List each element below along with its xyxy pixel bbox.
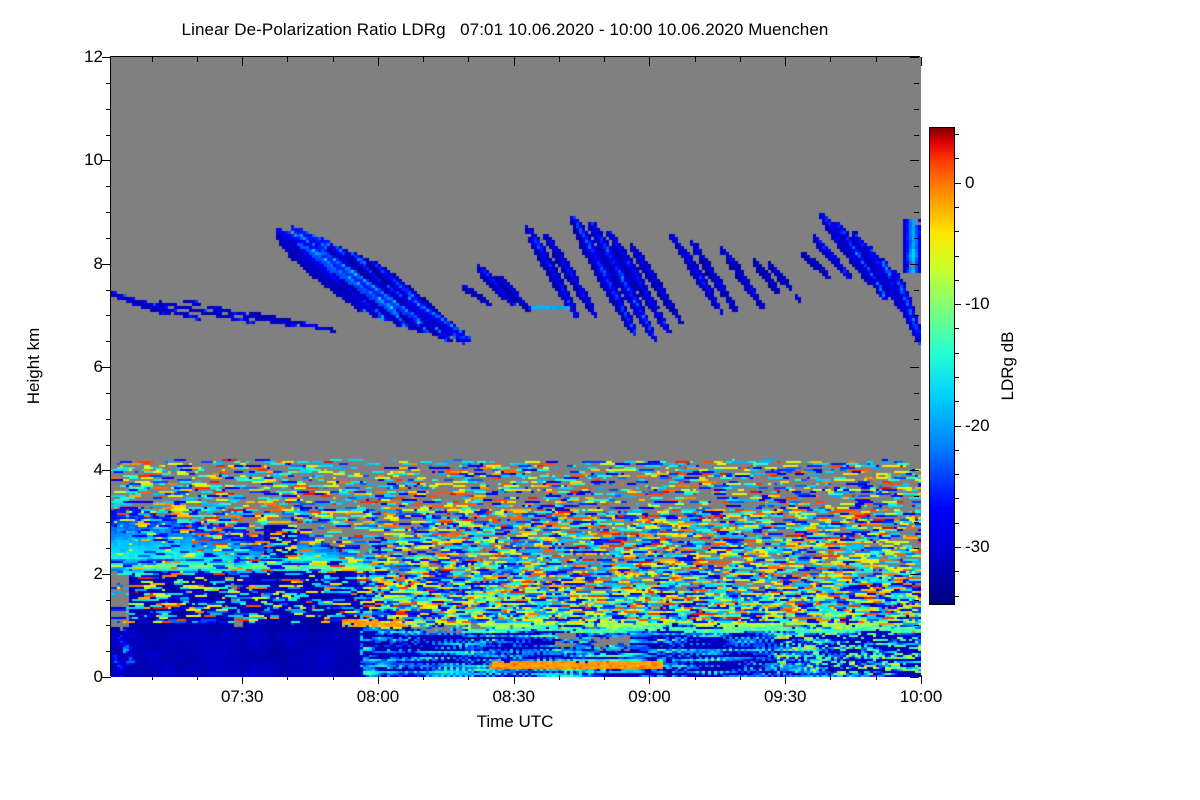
colorbar-tick-minor [954, 498, 959, 499]
y-tick-minor [914, 548, 919, 549]
y-tick-minor [106, 109, 111, 110]
x-tick-minor [604, 675, 605, 680]
y-tick-minor [106, 393, 111, 394]
y-axis-label: 12 [84, 47, 103, 67]
y-axis-label: 6 [94, 357, 103, 377]
y-tick-minor [106, 600, 111, 601]
y-tick-minor [106, 238, 111, 239]
y-tick-major [102, 57, 111, 58]
colorbar-tick-minor [954, 134, 959, 135]
x-tick-minor [287, 57, 288, 62]
y-tick-major [102, 470, 111, 471]
x-tick-minor [695, 57, 696, 62]
x-axis-label: 07:30 [221, 687, 264, 707]
y-tick-minor [106, 651, 111, 652]
y-tick-major [910, 677, 919, 678]
x-tick-major [378, 675, 379, 684]
x-tick-minor [695, 675, 696, 680]
radar-ldr-figure: Linear De-Polarization Ratio LDRg 07:01 … [0, 0, 1200, 800]
y-tick-minor [914, 445, 919, 446]
y-tick-major [910, 574, 919, 575]
y-tick-major [102, 677, 111, 678]
x-axis-title: Time UTC [477, 712, 554, 732]
y-tick-minor [914, 290, 919, 291]
y-tick-minor [106, 625, 111, 626]
x-tick-major [242, 57, 243, 66]
page-title: Linear De-Polarization Ratio LDRg 07:01 … [0, 20, 1010, 40]
y-tick-minor [106, 135, 111, 136]
colorbar-tick-minor [954, 523, 959, 524]
y-tick-minor [914, 315, 919, 316]
y-tick-minor [914, 186, 919, 187]
y-axis-label: 8 [94, 254, 103, 274]
x-tick-minor [740, 675, 741, 680]
x-axis-label: 08:00 [357, 687, 400, 707]
x-tick-minor [830, 57, 831, 62]
y-tick-minor [106, 315, 111, 316]
y-tick-minor [914, 238, 919, 239]
x-tick-minor [423, 57, 424, 62]
colorbar-tick-minor [954, 596, 959, 597]
colorbar-gradient [930, 128, 954, 604]
x-tick-minor [468, 675, 469, 680]
x-tick-minor [152, 675, 153, 680]
y-tick-major [102, 367, 111, 368]
colorbar: -30-20-100 [929, 127, 955, 605]
y-axis-title: Height km [24, 328, 44, 405]
x-tick-minor [876, 57, 877, 62]
colorbar-tick-minor [954, 256, 959, 257]
y-tick-minor [914, 83, 919, 84]
y-tick-minor [914, 600, 919, 601]
y-tick-minor [914, 496, 919, 497]
y-tick-minor [914, 419, 919, 420]
colorbar-label: 0 [965, 173, 974, 193]
y-tick-minor [914, 135, 919, 136]
y-tick-minor [106, 496, 111, 497]
y-tick-minor [106, 445, 111, 446]
colorbar-tick-minor [954, 450, 959, 451]
colorbar-label: -10 [965, 294, 990, 314]
y-tick-major [102, 574, 111, 575]
y-axis-label: 0 [94, 667, 103, 687]
colorbar-tick-minor [954, 158, 959, 159]
colorbar-tick-minor [954, 571, 959, 572]
x-axis-label: 08:30 [492, 687, 535, 707]
x-tick-minor [152, 57, 153, 62]
y-tick-minor [106, 290, 111, 291]
y-axis-label: 10 [84, 150, 103, 170]
colorbar-tick-minor [954, 280, 959, 281]
colorbar-tick-minor [954, 207, 959, 208]
y-tick-major [910, 57, 919, 58]
colorbar-tick-minor [954, 231, 959, 232]
colorbar-tick-major [954, 304, 961, 305]
colorbar-tick-minor [954, 377, 959, 378]
y-tick-major [102, 160, 111, 161]
colorbar-title: LDRg dB [998, 332, 1018, 401]
x-tick-minor [559, 57, 560, 62]
x-tick-minor [559, 675, 560, 680]
x-tick-minor [830, 675, 831, 680]
colorbar-tick-major [954, 547, 961, 548]
y-tick-major [910, 160, 919, 161]
colorbar-tick-minor [954, 474, 959, 475]
x-tick-major [785, 57, 786, 66]
y-tick-minor [914, 625, 919, 626]
x-tick-minor [333, 675, 334, 680]
x-tick-major [378, 57, 379, 66]
y-tick-minor [106, 548, 111, 549]
y-tick-major [910, 470, 919, 471]
heatmap-plot-area: 024681012 07:3008:0008:3009:0009:3010:00 [110, 56, 920, 676]
y-tick-minor [106, 83, 111, 84]
x-tick-major [242, 675, 243, 684]
y-tick-minor [106, 341, 111, 342]
x-tick-major [514, 57, 515, 66]
x-axis-label: 10:00 [900, 687, 943, 707]
x-tick-minor [287, 675, 288, 680]
x-tick-minor [197, 675, 198, 680]
x-tick-major [921, 675, 922, 684]
x-tick-major [649, 675, 650, 684]
y-tick-minor [914, 651, 919, 652]
x-tick-minor [604, 57, 605, 62]
colorbar-tick-minor [954, 401, 959, 402]
y-tick-major [910, 264, 919, 265]
y-tick-minor [106, 212, 111, 213]
y-tick-minor [106, 522, 111, 523]
x-axis-label: 09:00 [628, 687, 671, 707]
x-tick-minor [197, 57, 198, 62]
y-tick-minor [106, 419, 111, 420]
colorbar-tick-major [954, 426, 961, 427]
y-axis-label: 2 [94, 564, 103, 584]
x-tick-minor [468, 57, 469, 62]
colorbar-tick-minor [954, 328, 959, 329]
colorbar-tick-major [954, 183, 961, 184]
y-tick-minor [914, 341, 919, 342]
y-tick-minor [914, 212, 919, 213]
x-tick-minor [333, 57, 334, 62]
y-axis-label: 4 [94, 460, 103, 480]
x-tick-major [785, 675, 786, 684]
x-tick-major [514, 675, 515, 684]
colorbar-label: -20 [965, 416, 990, 436]
x-tick-major [921, 57, 922, 66]
y-tick-minor [914, 393, 919, 394]
x-tick-minor [740, 57, 741, 62]
x-axis-label: 09:30 [764, 687, 807, 707]
y-tick-minor [106, 186, 111, 187]
x-tick-major [649, 57, 650, 66]
y-tick-minor [914, 109, 919, 110]
heatmap-canvas [111, 57, 921, 677]
x-tick-minor [876, 675, 877, 680]
colorbar-label: -30 [965, 537, 990, 557]
y-tick-major [102, 264, 111, 265]
y-tick-major [910, 367, 919, 368]
colorbar-tick-minor [954, 353, 959, 354]
x-tick-minor [423, 675, 424, 680]
y-tick-minor [914, 522, 919, 523]
